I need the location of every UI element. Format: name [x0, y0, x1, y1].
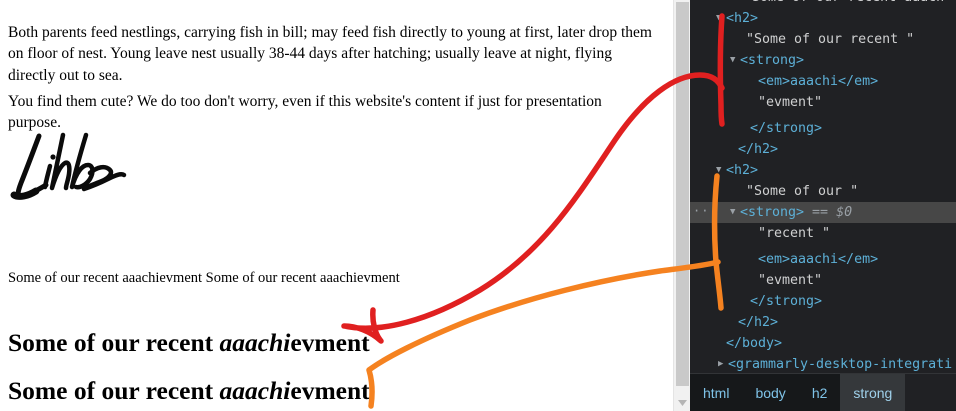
handwritten-signature-image	[6, 125, 206, 210]
web-page-content: Both parents feed nestlings, carrying fi…	[0, 0, 673, 411]
disclosure-spacer: ▶	[716, 333, 726, 354]
dom-tree-row[interactable]: ▶</h2>	[690, 139, 956, 160]
row-overflow-dots-icon[interactable]: ···	[693, 202, 718, 223]
heading-1-plain: Some of our recent	[8, 328, 220, 357]
disclosure-spacer: ▶	[734, 0, 744, 8]
dom-breadcrumb-bar[interactable]: htmlbodyh2strong	[690, 373, 956, 411]
dom-tree-row[interactable]: ▶<grammarly-desktop-integrati	[690, 354, 956, 374]
dom-tree-row[interactable]: ▶"Some of our recent aaach	[690, 0, 956, 8]
heading-1-bold-italic: aaachi	[220, 328, 291, 357]
dom-tree-row[interactable]: ▶"evment"	[690, 92, 956, 113]
disclosure-spacer: ▶	[748, 270, 758, 291]
heading-1: Some of our recent aaachievment	[8, 330, 370, 356]
dom-node-text: "Some of our "	[746, 184, 858, 199]
disclosure-triangle-collapsed-icon[interactable]: ▶	[718, 354, 728, 374]
dom-node-text: "evment"	[758, 273, 822, 288]
disclosure-spacer: ▶	[748, 92, 758, 113]
dom-node-text: "Some of our recent aaach	[744, 0, 944, 5]
dom-node-tag: </h2>	[738, 315, 778, 330]
dom-tree-row[interactable]: ▶</h2>	[690, 312, 956, 333]
disclosure-spacer: ▶	[728, 139, 738, 160]
heading-1-bold: evment	[290, 328, 369, 357]
scrollbar-down-arrow-button[interactable]	[674, 394, 691, 411]
heading-2-plain: Some of our	[8, 376, 146, 405]
heading-2: Some of our recent aaachievment	[8, 378, 370, 404]
dom-node-tag: <em>aaachi</em>	[758, 74, 878, 89]
disclosure-spacer: ▶	[728, 312, 738, 333]
disclosure-spacer: ▶	[736, 29, 746, 50]
chevron-down-icon	[678, 400, 687, 406]
heading-2-bold-italic: aaachi	[220, 376, 291, 405]
selected-node-reference: == $0	[804, 205, 852, 220]
body-paragraph-1: Both parents feed nestlings, carrying fi…	[8, 22, 656, 87]
breadcrumb-item-h2[interactable]: h2	[799, 374, 841, 411]
heading-2-bold: evment	[290, 376, 369, 405]
disclosure-spacer: ▶	[740, 291, 750, 312]
dom-tree-row[interactable]: ▶"recent "	[690, 223, 956, 244]
dom-node-text: "Some of our recent "	[746, 32, 914, 47]
dom-tree-row[interactable]: ▶"Some of our "	[690, 181, 956, 202]
dom-node-tag: </body>	[726, 336, 782, 351]
breadcrumb-item-html[interactable]: html	[690, 374, 742, 411]
dom-node-tag: <em>aaachi</em>	[758, 252, 878, 267]
disclosure-triangle-expanded-icon[interactable]: ▼	[716, 8, 726, 29]
dom-tree-row[interactable]: ▼<strong>	[690, 50, 956, 71]
breadcrumb-item-strong[interactable]: strong	[840, 374, 905, 411]
dom-tree-row[interactable]: ▶</body>	[690, 333, 956, 354]
page-scrollbar[interactable]	[673, 0, 691, 411]
dom-tree-row[interactable]: ▶"evment"	[690, 270, 956, 291]
dom-tree-row[interactable]: ▶</strong>	[690, 118, 956, 139]
dom-node-tag: <h2>	[726, 163, 758, 178]
scrollbar-thumb[interactable]	[676, 2, 689, 386]
dom-node-tag: </h2>	[738, 142, 778, 157]
dom-tree-row[interactable]: ▶</strong>	[690, 291, 956, 312]
disclosure-spacer: ▶	[748, 249, 758, 270]
dom-node-tag: <grammarly-desktop-integrati	[728, 357, 952, 372]
devtools-elements-panel: ▶"Some of our recent aaach▼<h2>▶"Some of…	[690, 0, 956, 411]
dom-node-tag: </strong>	[750, 121, 822, 136]
dom-node-tag: </strong>	[750, 294, 822, 309]
disclosure-spacer: ▶	[748, 71, 758, 92]
dom-node-tag: <strong>	[740, 205, 804, 220]
dom-tree-row[interactable]: ▶<em>aaachi</em>	[690, 71, 956, 92]
small-heading-text: Some of our recent aaachievment Some of …	[8, 270, 400, 287]
disclosure-triangle-expanded-icon[interactable]: ▼	[730, 202, 740, 223]
dom-tree-row[interactable]: ▼<h2>	[690, 8, 956, 29]
breadcrumb-item-body[interactable]: body	[742, 374, 798, 411]
dom-tree-row-selected[interactable]: ···▼<strong> == $0	[690, 202, 956, 223]
dom-node-text: "recent "	[758, 226, 830, 241]
dom-tree-row[interactable]: ▶<em>aaachi</em>	[690, 249, 956, 270]
dom-node-text: "evment"	[758, 95, 822, 110]
dom-tree-row[interactable]: ▶"Some of our recent "	[690, 29, 956, 50]
screenshot-root: Both parents feed nestlings, carrying fi…	[0, 0, 956, 411]
disclosure-triangle-expanded-icon[interactable]: ▼	[730, 50, 740, 71]
dom-node-tag: <strong>	[740, 53, 804, 68]
disclosure-triangle-expanded-icon[interactable]: ▼	[716, 160, 726, 181]
disclosure-spacer: ▶	[748, 223, 758, 244]
dom-tree[interactable]: ▶"Some of our recent aaach▼<h2>▶"Some of…	[690, 0, 956, 374]
dom-node-tag: <h2>	[726, 11, 758, 26]
disclosure-spacer: ▶	[740, 118, 750, 139]
disclosure-spacer: ▶	[736, 181, 746, 202]
breadcrumb-empty-space	[905, 374, 956, 411]
dom-tree-row[interactable]: ▼<h2>	[690, 160, 956, 181]
heading-2-bold-lead: recent	[146, 376, 220, 405]
